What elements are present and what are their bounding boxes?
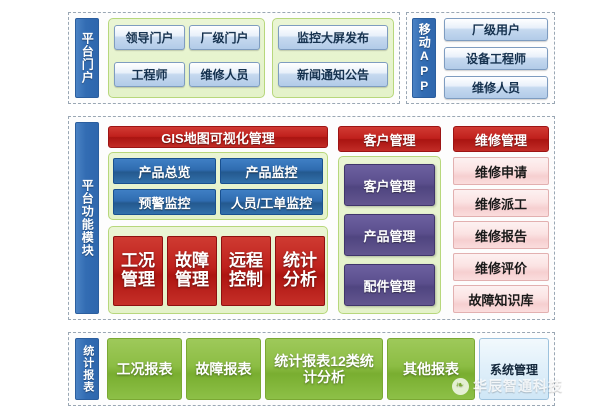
customer-card-parts-management-label: 配件管理 <box>363 276 415 295</box>
maintenance-item-fault-knowledge-base[interactable]: 故障知识库 <box>453 285 549 313</box>
architecture-diagram: 平台门户 领导门户 厂级门户 工程师 维修人员 监控大屏发布 新闻通知公告 移动… <box>0 0 608 416</box>
gis-button-alarm-monitor-label: 预警监控 <box>138 193 190 212</box>
maintenance-item-repair-evaluation-label: 维修评价 <box>475 258 527 277</box>
gis-button-staff-workorder-monitor[interactable]: 人员/工单监控 <box>220 189 323 215</box>
mobile-button-equipment-engineer[interactable]: 设备工程师 <box>444 47 548 70</box>
reports-tab[interactable]: 统计报表 <box>75 338 99 400</box>
customer-card-customer-management-label: 客户管理 <box>363 176 415 195</box>
module-card-condition-management-line1: 工况 <box>121 252 155 271</box>
report-tile-other[interactable]: 其他报表 <box>387 338 475 400</box>
customer-card-parts-management[interactable]: 配件管理 <box>344 264 435 306</box>
module-card-fault-management[interactable]: 故障 管理 <box>167 236 217 306</box>
portal-button-news-notice[interactable]: 新闻通知公告 <box>278 62 388 87</box>
maintenance-item-repair-dispatch-label: 维修派工 <box>475 194 527 213</box>
portal-button-news-notice-label: 新闻通知公告 <box>297 66 369 83</box>
mobile-button-factory-user-label: 厂级用户 <box>472 21 520 38</box>
reports-tab-label: 统计报表 <box>81 345 93 393</box>
module-card-remote-control[interactable]: 远程 控制 <box>221 236 271 306</box>
customer-header-label: 客户管理 <box>363 130 415 149</box>
gis-button-alarm-monitor[interactable]: 预警监控 <box>113 189 216 215</box>
maintenance-header-label: 维修管理 <box>475 130 527 149</box>
report-tile-condition[interactable]: 工况报表 <box>107 338 182 400</box>
mobile-button-factory-user[interactable]: 厂级用户 <box>444 18 548 41</box>
maintenance-item-repair-report-label: 维修报告 <box>475 226 527 245</box>
customer-card-customer-management[interactable]: 客户管理 <box>344 164 435 206</box>
maintenance-header-bar: 维修管理 <box>453 126 549 152</box>
report-tile-fault-label: 故障报表 <box>196 361 252 377</box>
report-tile-statistics-12-types[interactable]: 统计报表12类统计分析 <box>265 338 383 400</box>
gis-header-bar: GIS地图可视化管理 <box>108 126 328 148</box>
platform-portal-tab[interactable]: 平台门户 <box>75 18 99 98</box>
portal-button-factory-label: 厂级门户 <box>200 29 248 46</box>
portal-button-factory[interactable]: 厂级门户 <box>189 25 260 50</box>
report-tile-system-management[interactable]: 系统管理 <box>479 338 549 400</box>
module-card-fault-management-line2: 管理 <box>175 271 209 290</box>
portal-button-engineer-label: 工程师 <box>131 66 167 83</box>
report-tile-other-label: 其他报表 <box>403 361 459 377</box>
platform-modules-tab-label: 平台功能模块 <box>81 179 94 257</box>
module-card-statistics-analysis[interactable]: 统计 分析 <box>275 236 325 306</box>
portal-button-engineer[interactable]: 工程师 <box>114 62 185 87</box>
mobile-button-repairman-label: 维修人员 <box>472 79 520 96</box>
mobile-app-tab[interactable]: 移动APP <box>412 18 436 98</box>
report-tile-statistics-12-types-label: 统计报表12类统计分析 <box>270 353 378 385</box>
module-card-condition-management[interactable]: 工况 管理 <box>113 236 163 306</box>
gis-header-label: GIS地图可视化管理 <box>161 128 274 147</box>
maintenance-item-repair-dispatch[interactable]: 维修派工 <box>453 189 549 217</box>
module-card-fault-management-line1: 故障 <box>175 252 209 271</box>
portal-button-repairman-label: 维修人员 <box>200 66 248 83</box>
customer-card-product-management[interactable]: 产品管理 <box>344 214 435 256</box>
platform-portal-tab-label: 平台门户 <box>81 32 94 84</box>
customer-header-bar: 客户管理 <box>338 126 441 152</box>
mobile-button-equipment-engineer-label: 设备工程师 <box>466 50 526 67</box>
customer-card-product-management-label: 产品管理 <box>363 226 415 245</box>
maintenance-item-repair-request-label: 维修申请 <box>475 162 527 181</box>
report-tile-system-management-label: 系统管理 <box>490 361 538 378</box>
maintenance-item-repair-evaluation[interactable]: 维修评价 <box>453 253 549 281</box>
module-card-statistics-analysis-line1: 统计 <box>283 252 317 271</box>
mobile-app-tab-label: 移动APP <box>418 23 431 94</box>
mobile-button-repairman[interactable]: 维修人员 <box>444 76 548 99</box>
portal-button-repairman[interactable]: 维修人员 <box>189 62 260 87</box>
gis-button-product-overview[interactable]: 产品总览 <box>113 158 216 184</box>
gis-button-product-monitor[interactable]: 产品监控 <box>220 158 323 184</box>
gis-button-product-overview-label: 产品总览 <box>138 162 190 181</box>
maintenance-item-repair-report[interactable]: 维修报告 <box>453 221 549 249</box>
module-card-remote-control-line1: 远程 <box>229 252 263 271</box>
maintenance-item-repair-request[interactable]: 维修申请 <box>453 157 549 185</box>
report-tile-condition-label: 工况报表 <box>117 361 173 377</box>
maintenance-item-fault-knowledge-base-label: 故障知识库 <box>468 290 533 309</box>
gis-button-product-monitor-label: 产品监控 <box>245 162 297 181</box>
report-tile-fault[interactable]: 故障报表 <box>186 338 261 400</box>
portal-button-leader-label: 领导门户 <box>125 29 173 46</box>
portal-button-leader[interactable]: 领导门户 <box>114 25 185 50</box>
module-card-statistics-analysis-line2: 分析 <box>283 271 317 290</box>
module-card-remote-control-line2: 控制 <box>229 271 263 290</box>
portal-button-monitor-screen-label: 监控大屏发布 <box>297 29 369 46</box>
module-card-condition-management-line2: 管理 <box>121 271 155 290</box>
portal-button-monitor-screen[interactable]: 监控大屏发布 <box>278 25 388 50</box>
gis-button-staff-workorder-monitor-label: 人员/工单监控 <box>231 193 313 212</box>
platform-modules-tab[interactable]: 平台功能模块 <box>75 122 99 314</box>
